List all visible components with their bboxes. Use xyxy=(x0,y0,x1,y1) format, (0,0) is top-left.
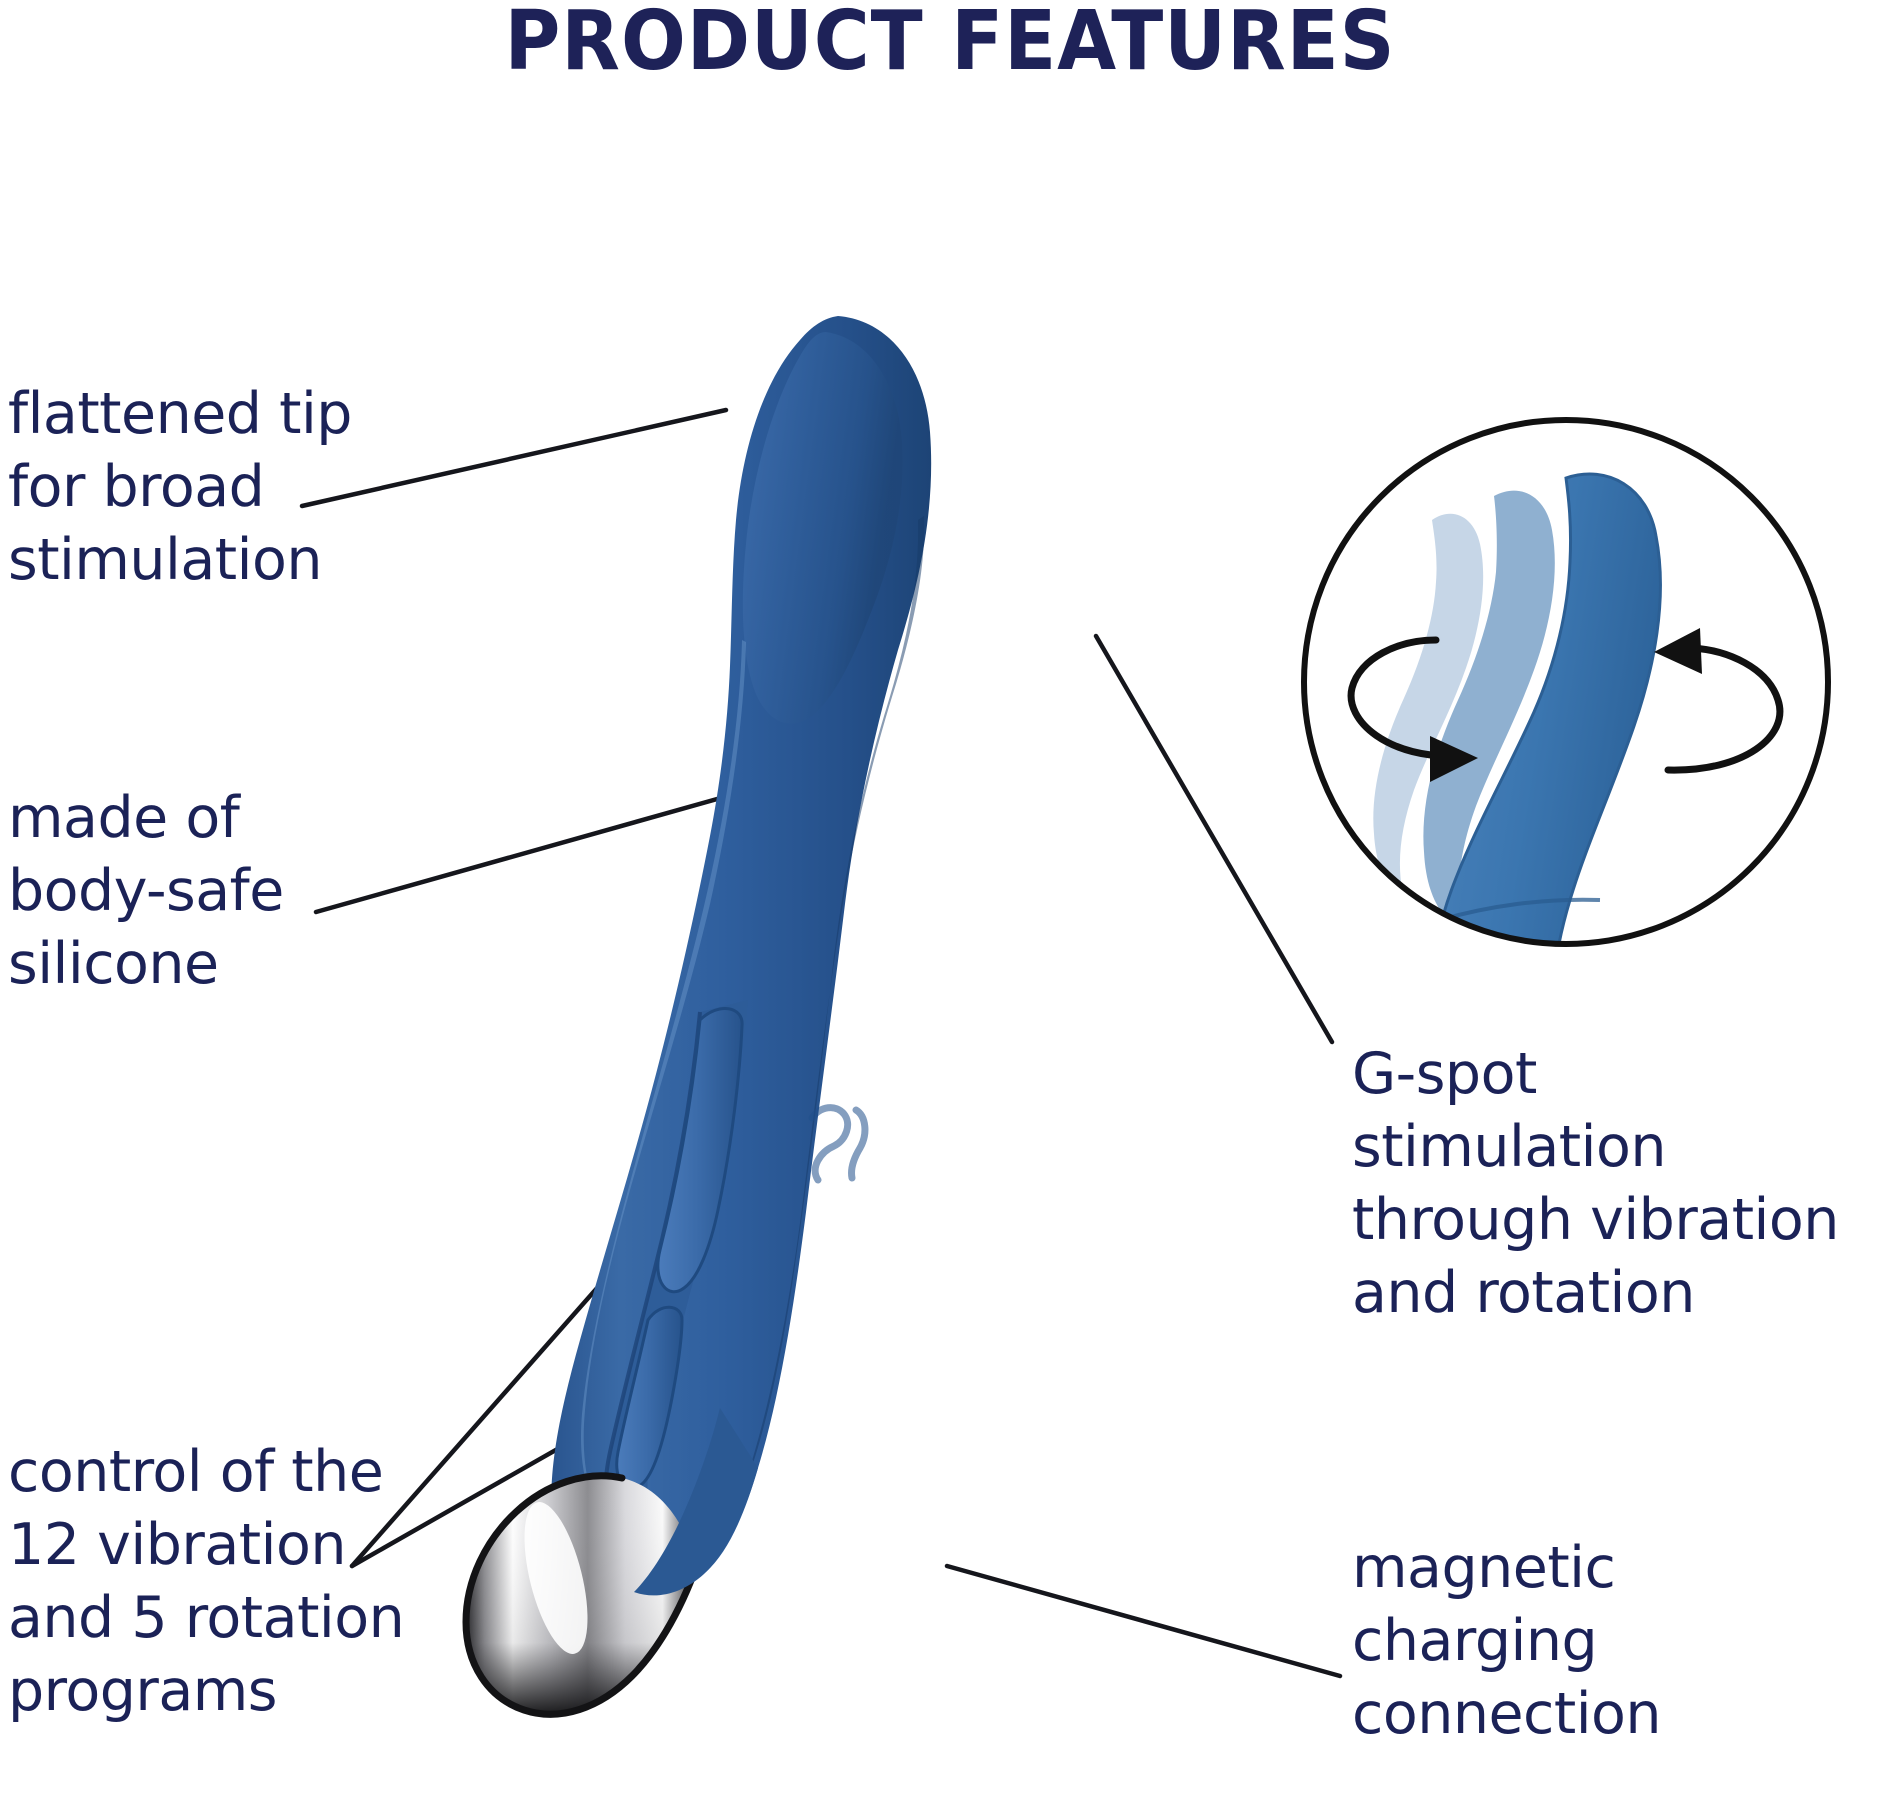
callout-flattened-tip: flattened tip for broad stimulation xyxy=(8,378,352,597)
rotation-arrowhead-right xyxy=(1654,628,1702,674)
rotation-detail-inset xyxy=(1304,420,1828,1056)
leader-line-flattened-tip xyxy=(302,410,726,506)
ghost-tip-light xyxy=(1373,514,1483,898)
base-metal xyxy=(466,1476,700,1714)
callout-controls: control of the 12 vibration and 5 rotati… xyxy=(8,1436,404,1728)
button-upper xyxy=(658,1009,742,1292)
base-metal-outline xyxy=(466,1476,700,1714)
product-body xyxy=(551,316,931,1599)
ghost-tip-mid xyxy=(1423,491,1554,928)
leader-line-body-safe xyxy=(316,792,742,912)
rotation-arrow-left xyxy=(1351,640,1462,756)
product-shaft-sheen xyxy=(581,640,746,1520)
product-features-infographic: PRODUCT FEATURES xyxy=(0,0,1900,1816)
callout-magnetic: magnetic charging connection xyxy=(1352,1532,1661,1751)
product-tip-highlight xyxy=(743,332,903,724)
rotation-arrow-right xyxy=(1668,648,1780,770)
solid-tip xyxy=(1430,474,1661,1056)
control-strip-edge xyxy=(606,1012,700,1512)
tip-seam-line xyxy=(1440,900,1600,920)
leader-line-magnetic xyxy=(947,1566,1340,1676)
product-right-shadow xyxy=(700,516,924,1566)
silicone-skirt xyxy=(634,1408,758,1595)
brand-logo-icon xyxy=(812,1108,865,1180)
leader-lines xyxy=(302,410,1340,1676)
rotation-arrows xyxy=(1351,640,1780,770)
callout-gspot: G-spot stimulation through vibration and… xyxy=(1352,1038,1839,1330)
button-lower xyxy=(617,1307,682,1488)
base-specular-highlight xyxy=(512,1496,600,1660)
leader-line-gspot xyxy=(1096,636,1332,1042)
page-title: PRODUCT FEATURES xyxy=(67,0,1834,89)
control-strip xyxy=(606,1000,748,1512)
magnetic-charging-base xyxy=(466,1476,700,1714)
callout-body-safe: made of body-safe silicone xyxy=(8,782,284,1001)
base-metal-shadow xyxy=(466,1476,700,1714)
product-device xyxy=(466,316,931,1714)
inset-circle-outline xyxy=(1304,420,1828,944)
rotation-arrowhead-left-tip xyxy=(1430,736,1478,782)
